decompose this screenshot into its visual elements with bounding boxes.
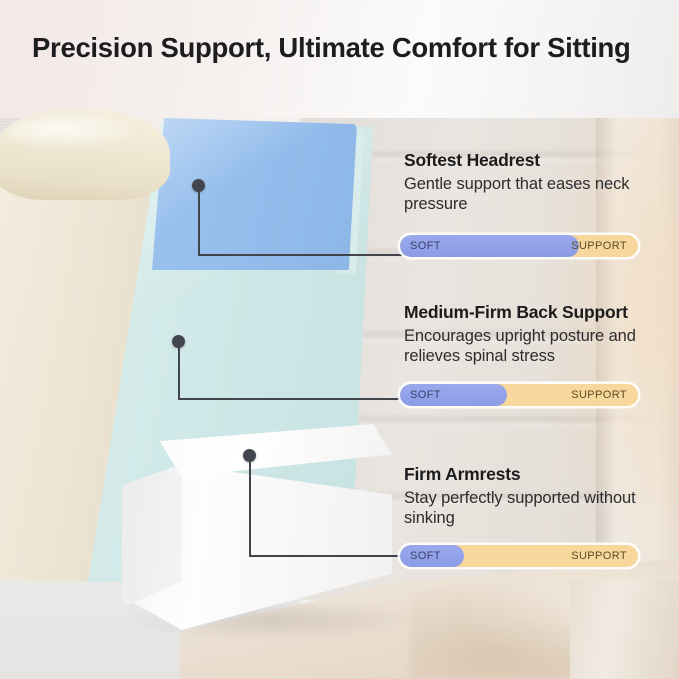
callout-armrests: Firm Armrests Stay perfectly supported w… (404, 464, 679, 529)
callout-description: Stay perfectly supported without sinking (404, 488, 679, 529)
foam-layer-headrest-highlight (152, 118, 357, 270)
leader-vertical-segment (249, 459, 251, 557)
infographic-stage: Precision Support, Ultimate Comfort for … (0, 0, 679, 679)
firmness-slider-headrest[interactable]: SOFT SUPPORT (400, 235, 638, 257)
page-title: Precision Support, Ultimate Comfort for … (32, 32, 652, 64)
firmness-slider-armrests[interactable]: SOFT SUPPORT (400, 545, 638, 567)
callout-title: Firm Armrests (404, 464, 679, 485)
callout-description: Gentle support that eases neck pressure (404, 174, 679, 215)
callout-description: Encourages upright posture and relieves … (404, 326, 679, 367)
slider-label-support: SUPPORT (571, 235, 627, 257)
callout-title: Softest Headrest (404, 150, 679, 171)
callout-back-support: Medium-Firm Back Support Encourages upri… (404, 302, 679, 367)
sofa-right-arm (570, 580, 679, 679)
callout-headrest: Softest Headrest Gentle support that eas… (404, 150, 679, 215)
slider-label-soft: SOFT (410, 235, 441, 257)
leader-horizontal-segment (249, 555, 407, 557)
foam-armrest-block (122, 424, 392, 630)
slider-label-soft: SOFT (410, 545, 441, 567)
callout-title: Medium-Firm Back Support (404, 302, 679, 323)
slider-label-support: SUPPORT (571, 384, 627, 406)
foam-roll-highlight (6, 116, 146, 150)
leader-horizontal-segment (198, 254, 407, 256)
firmness-slider-back-support[interactable]: SOFT SUPPORT (400, 384, 638, 406)
slider-label-soft: SOFT (410, 384, 441, 406)
leader-vertical-segment (198, 189, 200, 256)
leader-vertical-segment (178, 345, 180, 400)
slider-label-support: SUPPORT (571, 545, 627, 567)
leader-horizontal-segment (178, 398, 407, 400)
